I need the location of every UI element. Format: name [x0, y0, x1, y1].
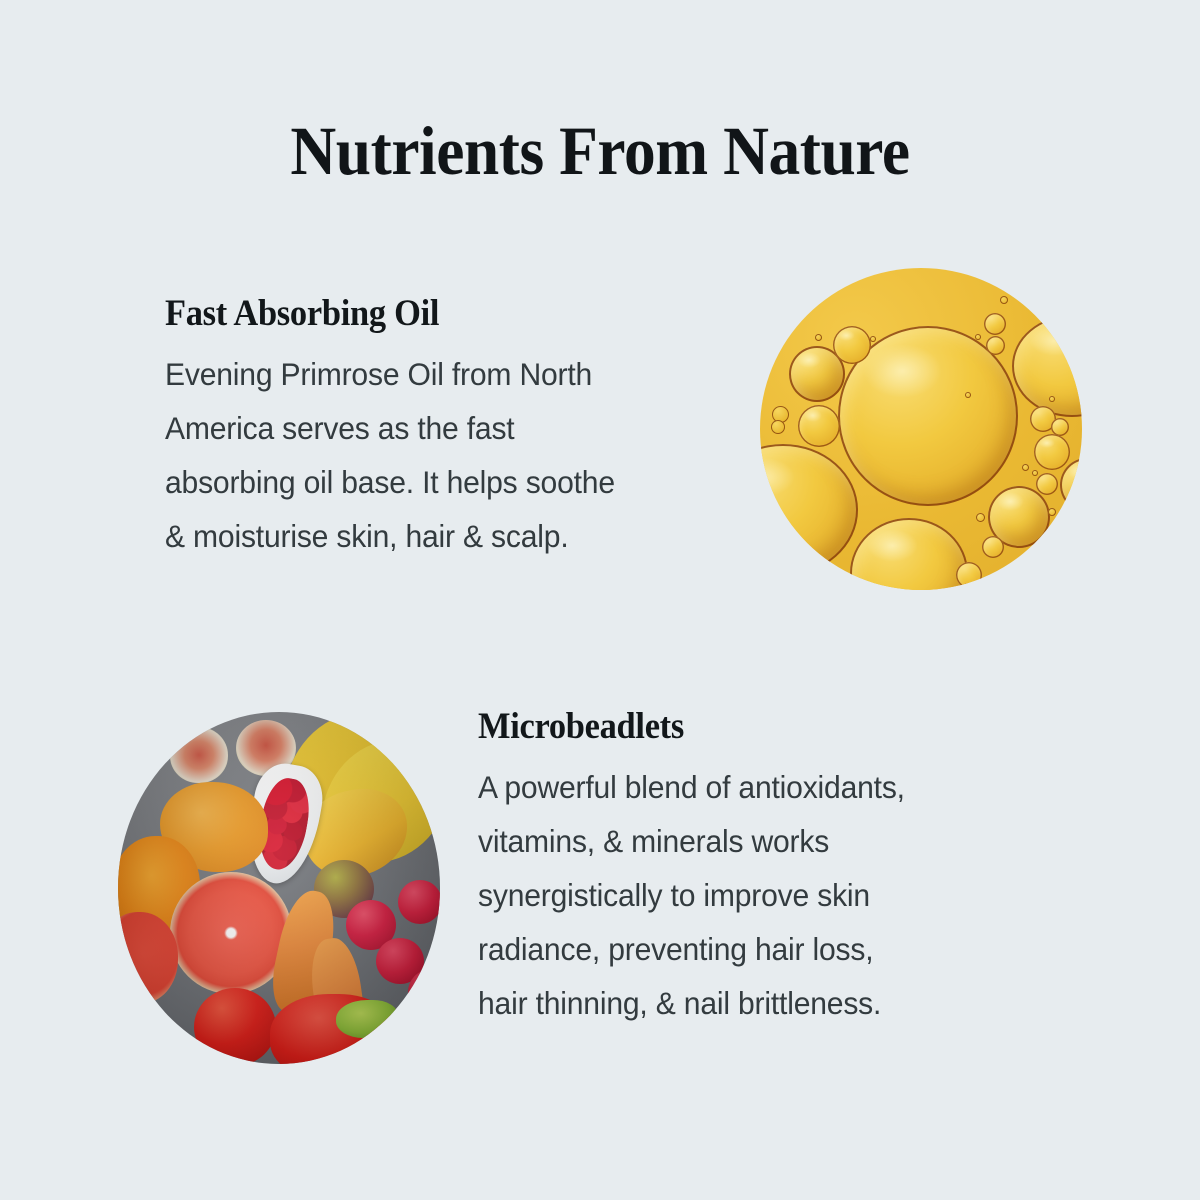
oil-bubble-tiny	[815, 334, 822, 341]
oil-bubble-tiny	[1000, 296, 1008, 304]
oil-bubble-large	[760, 444, 858, 576]
body-line: Evening Primrose Oil from North	[165, 347, 738, 401]
body-line: synergistically to improve skin	[478, 868, 1070, 922]
body-line: radiance, preventing hair loss,	[478, 922, 1070, 976]
radish	[408, 970, 440, 1014]
oil-bubble-tiny	[1049, 396, 1055, 402]
body-line: vitamins, & minerals works	[478, 814, 1070, 868]
oil-bubble	[1060, 458, 1082, 512]
section-heading-microbeadlets: Microbeadlets	[478, 705, 1055, 749]
page-title: Nutrients From Nature	[48, 113, 1152, 189]
section-fast-absorbing-oil: Fast Absorbing Oil Evening Primrose Oil …	[165, 292, 765, 563]
oil-bubble-tiny	[1007, 572, 1015, 580]
tomato	[194, 988, 276, 1064]
section-microbeadlets: Microbeadlets A powerful blend of antiox…	[478, 705, 1098, 1030]
marketing-infographic-page: Nutrients From Nature Fast Absorbing Oil…	[0, 0, 1200, 1200]
oil-bubble	[1034, 434, 1070, 470]
radish	[398, 880, 440, 924]
oil-bubble-tiny	[1056, 520, 1062, 526]
section-body-fast-absorbing-oil: Evening Primrose Oil from North America …	[165, 347, 738, 563]
body-line: absorbing oil base. It helps soothe	[165, 455, 738, 509]
oil-bubble	[982, 536, 1004, 558]
oil-bubble	[1036, 473, 1058, 495]
fig-half	[170, 727, 228, 783]
oil-bubbles-photo	[760, 268, 1082, 590]
oil-bubble-tiny	[976, 513, 985, 522]
body-line: A powerful blend of antioxidants,	[478, 760, 1070, 814]
oil-bubble	[956, 562, 982, 588]
oil-bubble	[986, 336, 1005, 355]
oil-bubble	[833, 326, 871, 364]
body-line: & moisturise skin, hair & scalp.	[165, 509, 738, 563]
oil-bubble-tiny	[771, 420, 785, 434]
oil-bubble-tiny	[1048, 508, 1056, 516]
oil-bubble-tiny	[975, 334, 981, 340]
oil-bubble-tiny	[870, 336, 876, 342]
oil-bubble-tiny	[1022, 464, 1029, 471]
oil-bubble-large	[1012, 315, 1082, 417]
pepper-stem	[336, 1000, 398, 1038]
oil-bubble-tiny	[1032, 470, 1038, 476]
body-line: America serves as the fast	[165, 401, 738, 455]
fruits-vegetables-photo	[118, 712, 440, 1064]
section-body-microbeadlets: A powerful blend of antioxidants, vitami…	[478, 760, 1070, 1030]
oil-bubble	[798, 405, 840, 447]
oil-bubble	[984, 313, 1006, 335]
oil-bubble-tiny	[965, 392, 971, 398]
body-line: hair thinning, & nail brittleness.	[478, 976, 1070, 1030]
section-heading-fast-absorbing-oil: Fast Absorbing Oil	[165, 292, 723, 336]
oil-bubble-large	[850, 518, 968, 590]
